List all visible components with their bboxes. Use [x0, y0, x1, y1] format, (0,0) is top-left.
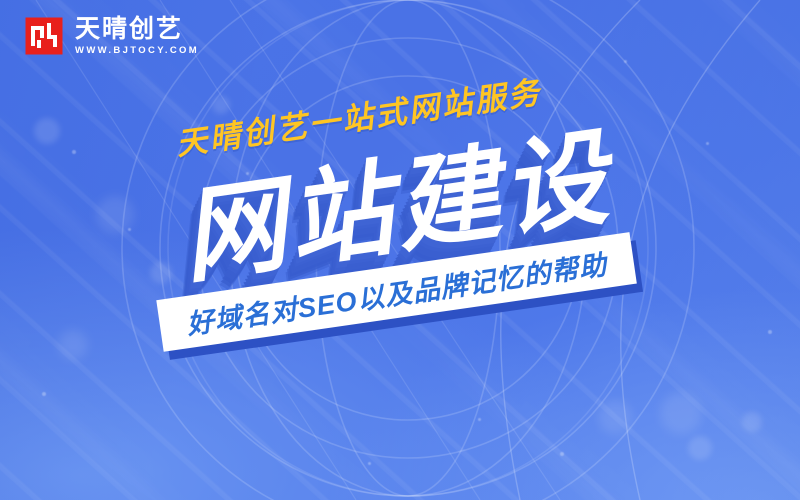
logo-company-name: 天晴创艺	[75, 16, 199, 42]
logo-bar: 天晴创艺 WWW.BJTOCY.COM	[0, 0, 800, 72]
logo-website-url: WWW.BJTOCY.COM	[75, 45, 199, 56]
tocy-square-mark-icon	[24, 16, 64, 56]
logo-wordmark: 天晴创艺 WWW.BJTOCY.COM	[75, 16, 199, 56]
brand-logo[interactable]: 天晴创艺 WWW.BJTOCY.COM	[24, 16, 199, 56]
promo-banner: 天晴创艺 WWW.BJTOCY.COM 天晴创艺一站式网站服务 网站建设 好域名…	[0, 0, 800, 500]
